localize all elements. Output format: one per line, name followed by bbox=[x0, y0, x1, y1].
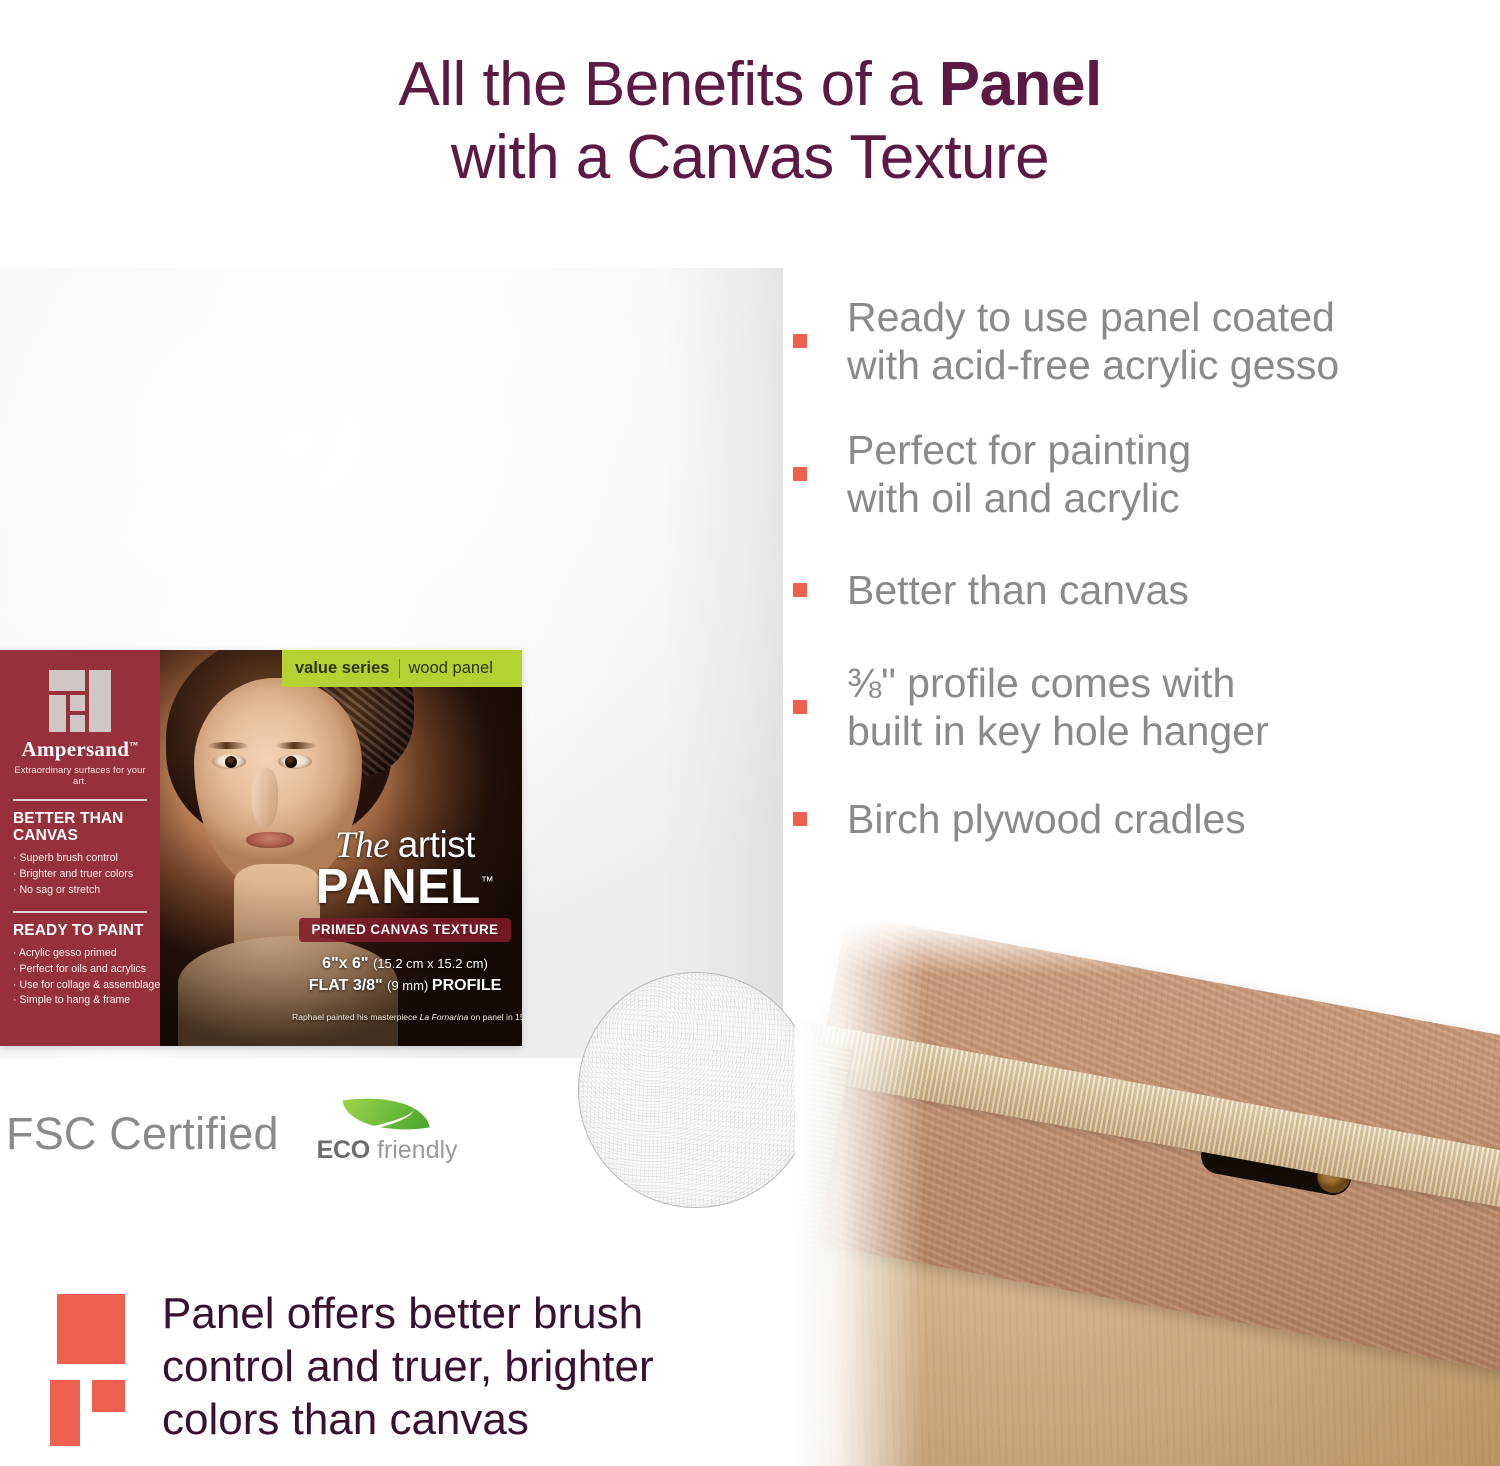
product-dimensions: 6"x 6" (15.2 cm x 15.2 cm) FLAT 3/8" (9 … bbox=[292, 953, 518, 996]
panel-edge-shadow bbox=[663, 268, 783, 1058]
bullet-marker-icon bbox=[793, 812, 807, 826]
infographic-page: All the Benefits of a Panel with a Canva… bbox=[0, 0, 1500, 1466]
eco-friendly-logo: ECOfriendly bbox=[317, 1096, 453, 1172]
list-item: ⅜" profile comes with built in key hole … bbox=[793, 638, 1493, 776]
headline-line-1: All the Benefits of a Panel bbox=[0, 48, 1500, 121]
canvas-texture-closeup bbox=[578, 972, 814, 1208]
label-section-2-item: · Simple to hang & frame bbox=[13, 993, 147, 1009]
headline-line-2: with a Canvas Texture bbox=[0, 121, 1500, 194]
benefit-text: Birch plywood cradles bbox=[847, 795, 1246, 843]
fsc-certified-label: FSC Certified bbox=[6, 1108, 279, 1160]
bullet-marker-icon bbox=[793, 334, 807, 348]
list-item: Ready to use panel coated with acid-free… bbox=[793, 276, 1493, 406]
banner-type-label: wood panel bbox=[409, 659, 493, 678]
product-title-panel: PANEL™ bbox=[292, 863, 518, 911]
label-section-2-item: · Use for collage & assemblage bbox=[13, 978, 147, 994]
ampersand-block-mark-icon bbox=[50, 1294, 134, 1446]
label-section-2-item: · Acrylic gesso primed bbox=[13, 946, 147, 962]
label-section-2-heading: READY TO PAINT bbox=[13, 922, 147, 939]
label-section-2-item: · Perfect for oils and acrylics bbox=[13, 962, 147, 978]
benefit-text: Better than canvas bbox=[847, 566, 1189, 614]
label-divider bbox=[13, 911, 147, 913]
ampersand-logo-icon bbox=[43, 670, 117, 732]
brand-trademark-icon: ™ bbox=[129, 740, 138, 750]
benefit-text: ⅜" profile comes with built in key hole … bbox=[847, 659, 1269, 756]
benefit-text: Perfect for painting with oil and acryli… bbox=[847, 426, 1191, 523]
bullet-marker-icon bbox=[793, 583, 807, 597]
benefit-text: Ready to use panel coated with acid-free… bbox=[847, 293, 1339, 390]
product-title-the-artist: The artist bbox=[292, 826, 518, 864]
label-section-1-item: · No sag or stretch bbox=[13, 883, 147, 899]
banner-separator bbox=[399, 659, 400, 678]
artwork-attribution: Raphael painted his masterpiece La Forna… bbox=[292, 1012, 518, 1022]
label-brand-column: Ampersand™ Extraordinary surfaces for yo… bbox=[0, 650, 160, 1046]
brand-tagline: Extraordinary surfaces for your art. bbox=[13, 764, 147, 786]
caption-text: Panel offers better brush control and tr… bbox=[162, 1288, 780, 1446]
headline-line-1-bold: Panel bbox=[939, 50, 1102, 119]
brand-name: Ampersand™ bbox=[13, 737, 147, 762]
benefits-list: Ready to use panel coated with acid-free… bbox=[793, 276, 1493, 862]
bullet-marker-icon bbox=[793, 700, 807, 714]
label-section-1-item: · Brighter and truer colors bbox=[13, 867, 147, 883]
bullet-marker-icon bbox=[793, 467, 807, 481]
eco-word: ECO bbox=[317, 1136, 370, 1164]
label-section-1-item: · Superb brush control bbox=[13, 851, 147, 867]
friendly-word: friendly bbox=[377, 1136, 458, 1164]
list-item: Better than canvas bbox=[793, 542, 1493, 638]
panel-back-photo bbox=[795, 920, 1500, 1466]
list-item: Perfect for painting with oil and acryli… bbox=[793, 406, 1493, 542]
value-series-banner: value series wood panel bbox=[282, 650, 522, 687]
certification-row: FSC Certified ECOfriendly bbox=[6, 1096, 453, 1172]
label-divider bbox=[13, 799, 147, 801]
headline-line-1-regular: All the Benefits of a bbox=[398, 50, 938, 119]
banner-series-label: value series bbox=[295, 659, 390, 678]
list-item: Birch plywood cradles bbox=[793, 776, 1493, 862]
bottom-caption: Panel offers better brush control and tr… bbox=[50, 1288, 780, 1446]
page-title: All the Benefits of a Panel with a Canva… bbox=[0, 48, 1500, 194]
eco-friendly-text: ECOfriendly bbox=[317, 1136, 453, 1165]
panel-trademark-icon: ™ bbox=[481, 874, 495, 889]
product-subtitle-pill: PRIMED CANVAS TEXTURE bbox=[299, 918, 510, 942]
label-product-title-block: The artist PANEL™ PRIMED CANVAS TEXTURE … bbox=[292, 826, 518, 996]
label-section-1-heading: BETTER THAN CANVAS bbox=[13, 810, 147, 845]
packaging-label: Ampersand™ Extraordinary surfaces for yo… bbox=[0, 650, 522, 1046]
